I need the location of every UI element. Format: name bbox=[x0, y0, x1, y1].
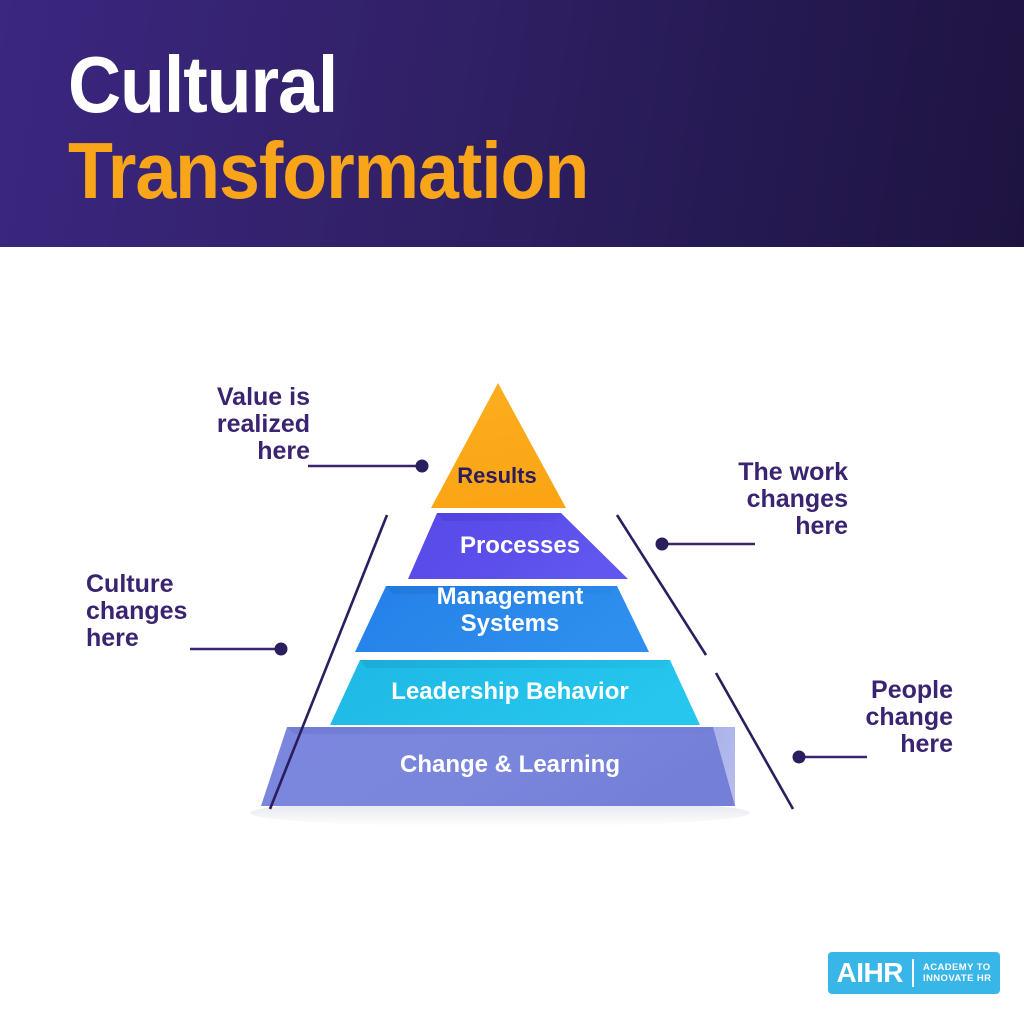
aihr-wordmark: AIHR bbox=[837, 959, 903, 987]
callout-line: here bbox=[648, 513, 848, 540]
connector-value-is-realized-here bbox=[308, 460, 429, 473]
callout-line: realized bbox=[120, 411, 310, 438]
layer-top-shade-leadership bbox=[360, 660, 670, 668]
layer-body-management bbox=[355, 586, 649, 652]
page-title-line-2: Transformation bbox=[68, 128, 896, 214]
callout-line: Value is bbox=[120, 384, 310, 411]
pyramid-layer-leadership-behavior bbox=[330, 660, 700, 725]
page-title-line-1: Cultural bbox=[68, 42, 896, 128]
callout-line: here bbox=[120, 438, 310, 465]
callout-line: The work bbox=[648, 459, 848, 486]
layer-body-processes bbox=[408, 513, 628, 579]
callout-line: changes bbox=[86, 598, 286, 625]
callout-line: People bbox=[758, 677, 953, 704]
pyramid-diagram: Results Processes Management Systems Lea… bbox=[0, 247, 1024, 1024]
layer-body-leadership bbox=[330, 660, 700, 725]
logo-divider bbox=[912, 959, 914, 987]
callout-line: Culture bbox=[86, 571, 286, 598]
aihr-logo[interactable]: AIHR ACADEMY TO INNOVATE HR bbox=[828, 952, 1000, 994]
layer-body-change bbox=[261, 727, 735, 806]
callout-value-is-realized-here: Value is realized here bbox=[120, 384, 310, 465]
pyramid-layer-results bbox=[431, 383, 566, 508]
page-title: Cultural Transformation bbox=[68, 42, 968, 214]
layer-top-shade-management bbox=[386, 586, 617, 594]
callout-line: changes bbox=[648, 486, 848, 513]
callout-line: here bbox=[86, 625, 286, 652]
layer-top-shade-processes bbox=[437, 513, 561, 521]
header-band: Cultural Transformation bbox=[0, 0, 1024, 247]
callout-line: here bbox=[758, 731, 953, 758]
callout-the-work-changes-here: The work changes here bbox=[648, 459, 848, 540]
layer-top-shade-change bbox=[287, 727, 713, 734]
callout-people-change-here: People change here bbox=[758, 677, 953, 758]
aihr-tagline-line-1: ACADEMY TO bbox=[923, 962, 991, 974]
layer-body-results bbox=[431, 383, 566, 508]
callout-culture-changes-here: Culture changes here bbox=[86, 571, 286, 652]
aihr-tagline-line-2: INNOVATE HR bbox=[923, 973, 991, 985]
aihr-tagline: ACADEMY TO INNOVATE HR bbox=[923, 962, 991, 985]
callout-line: change bbox=[758, 704, 953, 731]
pyramid-layer-processes bbox=[408, 513, 628, 579]
pyramid-layer-change-and-learning bbox=[261, 727, 735, 806]
pyramid-layer-management-systems bbox=[355, 586, 649, 652]
